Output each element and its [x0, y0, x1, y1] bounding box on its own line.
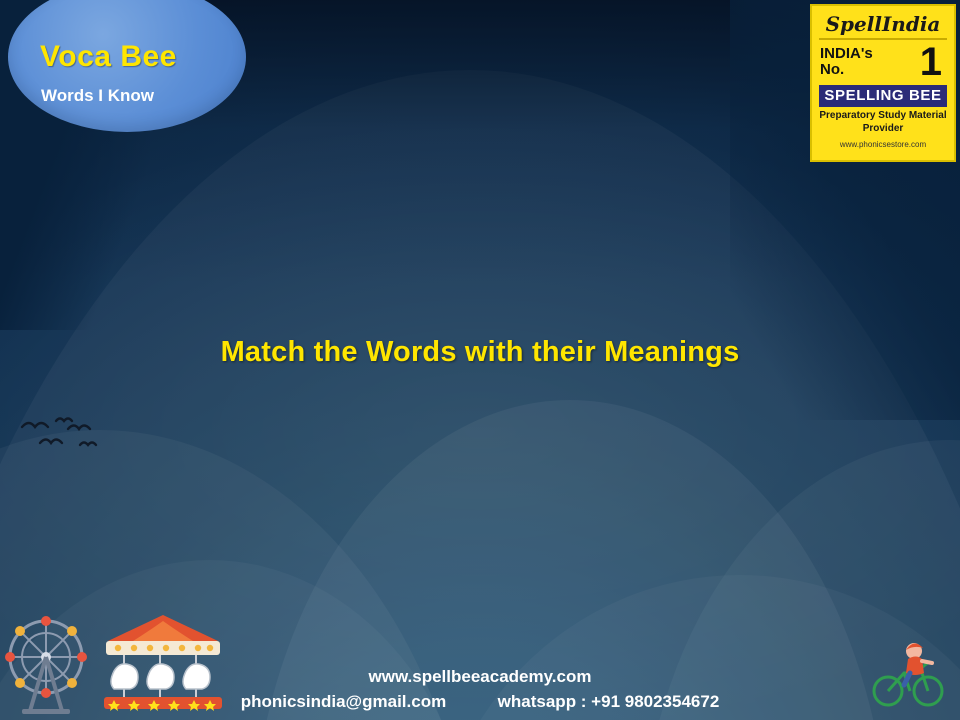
footer-contact-line: phonicsindia@gmail.com whatsapp : +91 98… — [0, 692, 960, 712]
badge-provider-text: Preparatory Study Material Provider — [817, 110, 949, 135]
footer-whatsapp: whatsapp : +91 9802354672 — [498, 692, 720, 711]
badge-no-text: No. — [820, 62, 873, 78]
birds-icon — [10, 405, 130, 470]
badge-spelling-bee-band: SPELLING BEE — [819, 85, 947, 107]
badge-url: www.phonicsestore.com — [817, 140, 949, 149]
logo-subtitle: Words I Know — [41, 86, 154, 106]
footer: www.spellbeeacademy.com phonicsindia@gma… — [0, 667, 960, 712]
spellindia-badge: SpellIndia INDIA's No. 1 SPELLING BEE Pr… — [810, 4, 956, 162]
badge-rank-row: INDIA's No. 1 — [817, 42, 949, 82]
badge-provider-line2: Provider — [817, 123, 949, 136]
badge-brand-name: SpellIndia — [817, 13, 949, 35]
badge-provider-line1: Preparatory Study Material — [817, 110, 949, 123]
slide-canvas: Voca Bee Words I Know SpellIndia INDIA's… — [0, 0, 960, 720]
badge-rank-label: INDIA's No. — [820, 46, 873, 78]
badge-indias-text: INDIA's — [820, 46, 873, 62]
footer-email[interactable]: phonicsindia@gmail.com — [241, 692, 447, 711]
slide-heading: Match the Words with their Meanings — [0, 336, 960, 369]
footer-website[interactable]: www.spellbeeacademy.com — [0, 667, 960, 687]
logo-title: Voca Bee — [40, 40, 177, 74]
badge-rank-number: 1 — [920, 42, 946, 82]
